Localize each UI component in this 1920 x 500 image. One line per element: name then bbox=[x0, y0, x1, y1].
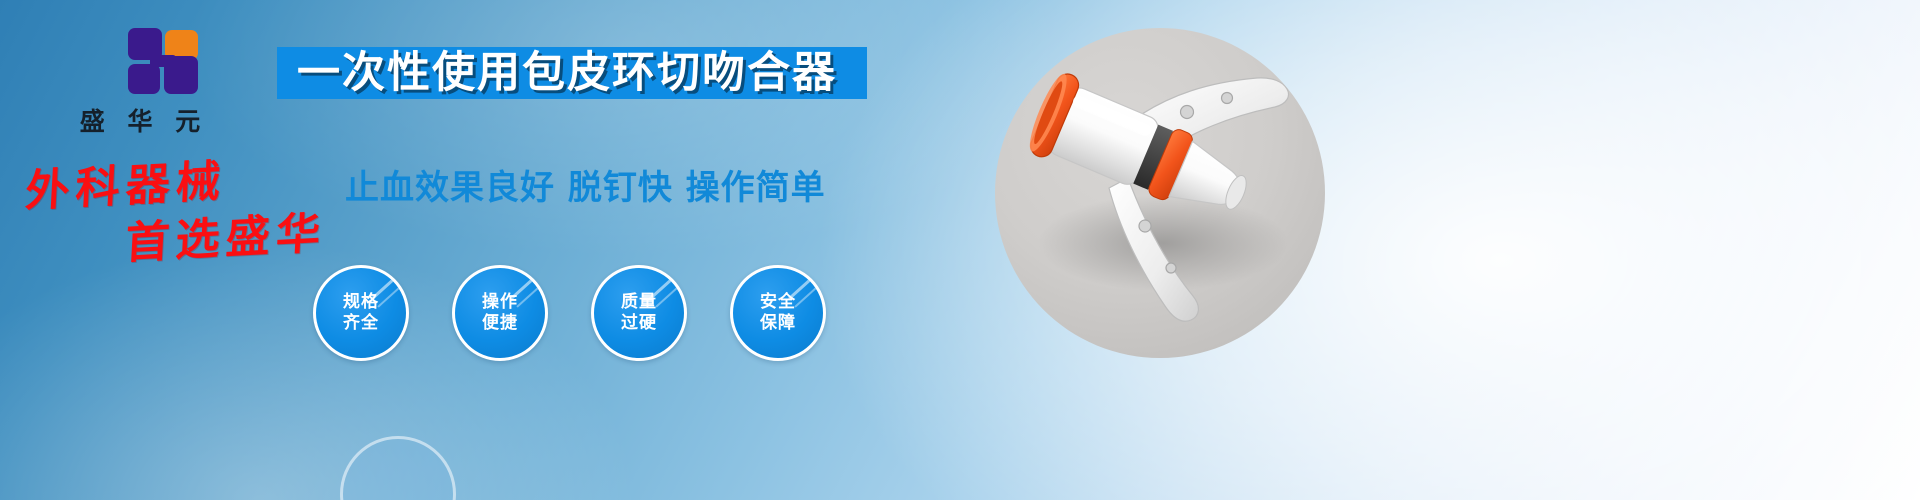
feature-badge-line-2: 便捷 bbox=[482, 313, 518, 334]
feature-badge-line-1: 安全 bbox=[760, 292, 796, 313]
feature-badge-line-2: 齐全 bbox=[343, 313, 379, 334]
feature-badge[interactable]: 质量 过硬 bbox=[591, 265, 687, 361]
feature-badge[interactable]: 安全 保障 bbox=[730, 265, 826, 361]
feature-badge-line-1: 质量 bbox=[621, 292, 657, 313]
promo-banner: 盛 华 元 外科器械 首选盛华 一次性使用包皮环切吻合器 止血效果良好 脱钉快 … bbox=[0, 0, 1920, 500]
decorative-circle bbox=[340, 436, 456, 500]
art-slogan: 外科器械 首选盛华 bbox=[18, 150, 348, 260]
feature-badge-line-2: 保障 bbox=[760, 313, 796, 334]
brand-logo-block[interactable]: 盛 华 元 bbox=[55, 28, 225, 138]
page-title: 一次性使用包皮环切吻合器 bbox=[297, 45, 857, 101]
logo-square-bottom-right bbox=[164, 56, 198, 94]
art-slogan-line-2: 首选盛华 bbox=[124, 197, 328, 271]
feature-badge-line-1: 规格 bbox=[343, 292, 379, 313]
feature-badge-line-1: 操作 bbox=[482, 292, 518, 313]
brand-name: 盛 华 元 bbox=[55, 102, 225, 138]
feature-badge[interactable]: 操作 便捷 bbox=[452, 265, 548, 361]
logo-square-bottom-left bbox=[128, 64, 160, 94]
background-glow-bottom-left bbox=[0, 240, 640, 500]
subtitle: 止血效果良好 脱钉快 操作简单 bbox=[345, 166, 826, 210]
brand-logo-icon bbox=[95, 28, 185, 96]
feature-badge-line-2: 过硬 bbox=[621, 313, 657, 334]
product-image bbox=[995, 28, 1325, 358]
feature-badge[interactable]: 规格 齐全 bbox=[313, 265, 409, 361]
product-image-frame bbox=[995, 28, 1325, 358]
